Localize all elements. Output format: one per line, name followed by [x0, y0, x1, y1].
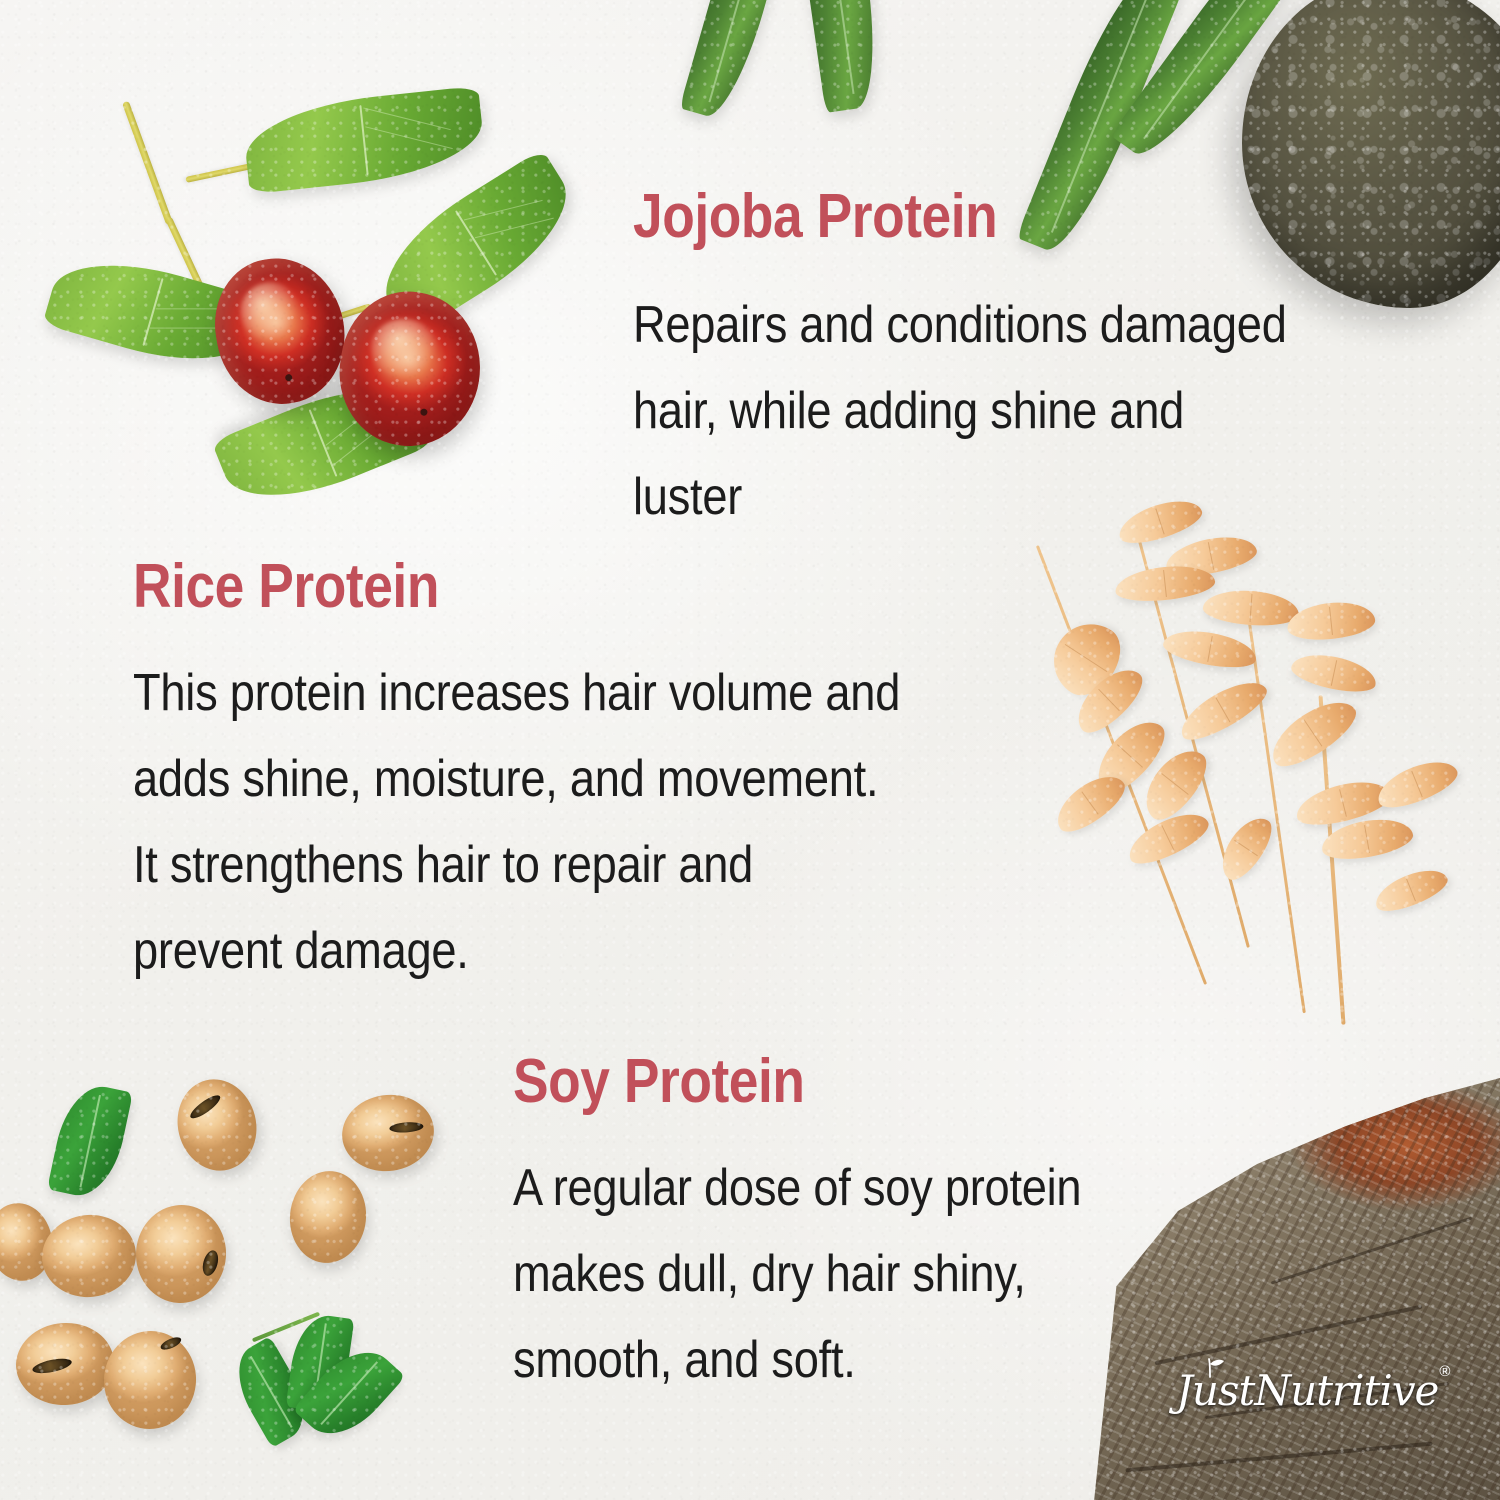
rice-grain-image [1025, 495, 1495, 1050]
section-heading-soy: Soy Protein [513, 1051, 1075, 1113]
soybean [99, 1326, 201, 1433]
soybean [337, 1089, 439, 1177]
top-leaves-group [690, 0, 1210, 210]
grain [1212, 809, 1279, 886]
stem [252, 1312, 320, 1343]
grain [1040, 610, 1132, 706]
leaf-icon [679, 0, 794, 123]
section-soy: Soy Protein A regular dose of soy protei… [513, 1051, 1166, 1403]
grain [1161, 625, 1259, 673]
leaf-icon [286, 1312, 355, 1415]
grain [1134, 740, 1216, 829]
section-body-rice: This protein increases hair volume and a… [133, 650, 900, 994]
grain [1289, 648, 1380, 697]
brand-logo: JustNutritive ® [1176, 1358, 1426, 1424]
body-line: smooth, and soft. [513, 1317, 1081, 1403]
grain [1048, 766, 1132, 841]
grain [1173, 671, 1273, 748]
leaf-icon [42, 243, 263, 381]
grain [1319, 813, 1416, 864]
body-line: hair, while adding shine and [633, 368, 1287, 454]
body-line: prevent damage. [133, 908, 900, 994]
body-line: It strengthens hair to repair and [133, 822, 900, 908]
section-heading-jojoba: Jojoba Protein [633, 186, 1279, 248]
registered-mark: ® [1439, 1364, 1450, 1379]
stalk [1133, 522, 1250, 948]
body-line: Repairs and conditions damaged [633, 282, 1287, 368]
leaf-sprout-icon [1200, 1356, 1226, 1378]
stalk [1036, 545, 1207, 985]
soybean [13, 1320, 116, 1409]
grain [1370, 862, 1452, 918]
soybean [285, 1167, 370, 1266]
section-body-soy: A regular dose of soy protein makes dull… [513, 1145, 1081, 1403]
soybean [38, 1210, 140, 1301]
body-line: adds shine, moisture, and movement. [133, 736, 900, 822]
grain [1292, 774, 1394, 832]
body-line: luster [633, 454, 1287, 540]
leaf-icon [223, 1336, 319, 1448]
leaf-icon [293, 1335, 406, 1451]
stem [122, 101, 173, 226]
grain [1202, 588, 1300, 629]
leaf-icon [1110, 0, 1327, 169]
stalk [1247, 617, 1306, 1014]
section-body-jojoba: Repairs and conditions damaged hair, whi… [633, 282, 1287, 540]
jojoba-fruit-image [40, 70, 540, 550]
stalk [1318, 695, 1345, 1024]
body-line: This protein increases hair volume and [133, 650, 900, 736]
stem [185, 159, 270, 183]
grain [1067, 659, 1151, 742]
leaf-icon [211, 365, 434, 522]
infographic-canvas: Jojoba Protein Repairs and conditions da… [0, 0, 1500, 1500]
soybean-image [0, 1075, 460, 1500]
jojoba-fruit [204, 248, 355, 414]
soybean [133, 1202, 230, 1306]
leaf-icon [47, 1080, 133, 1203]
stem [165, 216, 222, 328]
stem [284, 303, 371, 337]
grain [1122, 804, 1214, 872]
leaf-icon [791, 0, 885, 113]
soybean [0, 1198, 58, 1286]
grain [1114, 562, 1217, 605]
jojoba-fruit [329, 282, 491, 456]
body-line: A regular dose of soy protein [513, 1145, 1081, 1231]
body-line: makes dull, dry hair shiny, [513, 1231, 1081, 1317]
section-rice: Rice Protein This protein increases hair… [133, 556, 1015, 994]
section-jojoba: Jojoba Protein Repairs and conditions da… [633, 186, 1384, 540]
section-heading-rice: Rice Protein [133, 556, 891, 618]
leaf-icon [241, 86, 486, 194]
grain [1372, 753, 1463, 816]
grain [1285, 598, 1376, 643]
leaf-icon [362, 149, 589, 338]
grain [1086, 710, 1175, 802]
grain [1262, 690, 1364, 777]
soybean [168, 1071, 266, 1179]
